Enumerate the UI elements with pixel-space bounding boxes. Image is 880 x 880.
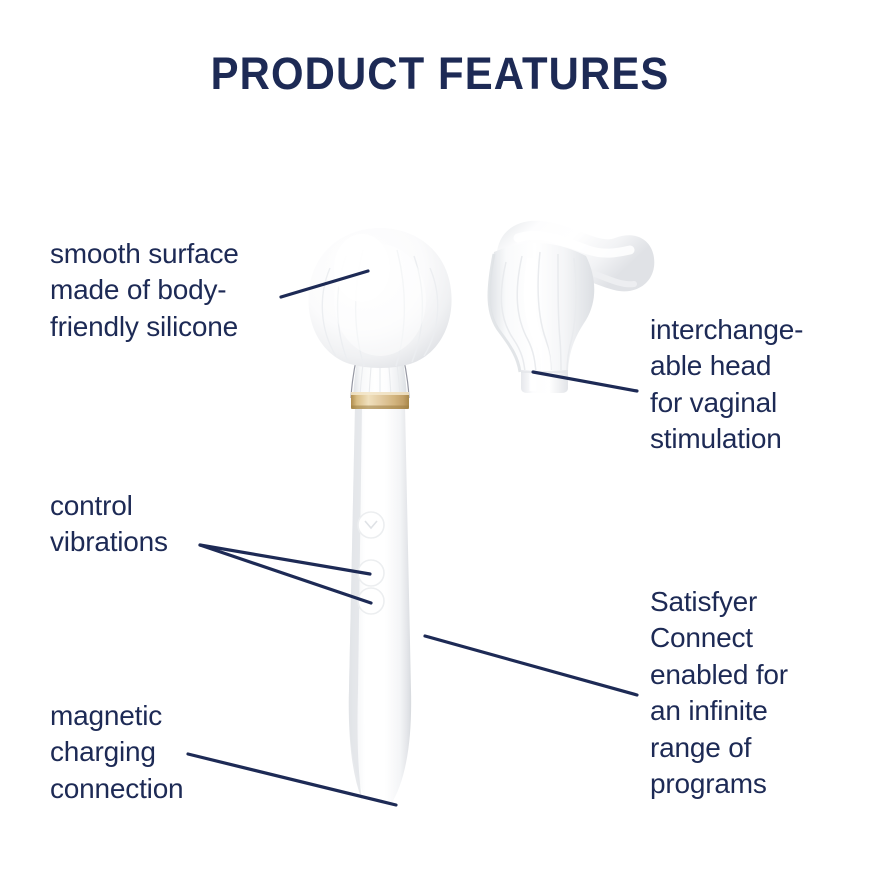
callout-label-smooth-surface: smooth surface made of body- friendly si… [50, 236, 310, 345]
interchangeable-attachment [489, 221, 654, 393]
callout-label-magnetic-charging: magnetic charging connection [50, 698, 290, 807]
callout-label-control-vibrations: control vibrations [50, 488, 280, 561]
gold-ring [351, 392, 409, 409]
leader-line-connect [425, 636, 637, 695]
callout-label-satisfyer-connect: Satisfyer Connect enabled for an infinit… [650, 584, 865, 802]
control-button-power[interactable] [358, 512, 384, 538]
product-features-infographic: PRODUCT FEATURES [0, 0, 880, 880]
massage-wand [308, 228, 451, 813]
callout-label-interchangeable-head: interchange- able head for vaginal stimu… [650, 312, 865, 458]
head-soft-glow [334, 244, 426, 356]
